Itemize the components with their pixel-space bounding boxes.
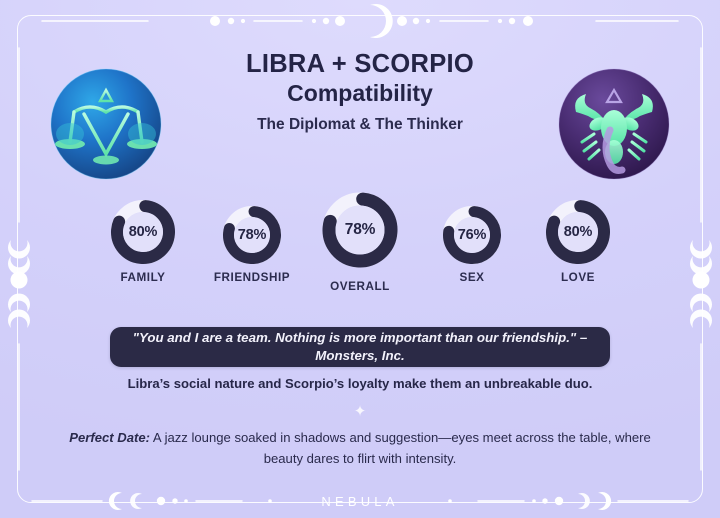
ring-value-family: 80%: [109, 198, 177, 266]
sparkle-divider-icon: ✦: [0, 404, 720, 419]
compatibility-card: LIBRA + SCORPIO Compatibility The Diplom…: [0, 0, 720, 518]
ring-label-overall: OVERALL: [318, 280, 402, 293]
title-block: LIBRA + SCORPIO Compatibility The Diplom…: [186, 50, 534, 134]
card-header: LIBRA + SCORPIO Compatibility The Diplom…: [0, 34, 720, 184]
page-subtitle: Compatibility: [186, 80, 534, 108]
ring-label-love: LOVE: [538, 271, 618, 284]
ring-family: 80% FAMILY: [103, 198, 183, 284]
libra-zodiac-icon: [50, 68, 162, 180]
ring-label-friendship: FRIENDSHIP: [212, 271, 292, 284]
ring-label-sex: SEX: [432, 271, 512, 284]
ring-value-overall: 78%: [320, 190, 400, 270]
page-title: LIBRA + SCORPIO: [186, 50, 534, 79]
ring-value-sex: 76%: [441, 204, 503, 266]
perfect-date-label: Perfect Date:: [69, 430, 150, 445]
ring-friendship: 78% FRIENDSHIP: [212, 204, 292, 284]
quote-text: "You and I are a team. Nothing is more i…: [110, 329, 610, 364]
footer-ornament: NEBULA: [0, 484, 720, 518]
ring-value-friendship: 78%: [221, 204, 283, 266]
ring-love: 80% LOVE: [538, 198, 618, 284]
quote-banner: "You and I are a team. Nothing is more i…: [110, 327, 610, 367]
footer-brand: NEBULA: [321, 494, 398, 509]
ring-label-family: FAMILY: [103, 271, 183, 284]
ring-sex: 76% SEX: [432, 204, 512, 284]
ring-value-love: 80%: [544, 198, 612, 266]
ring-overall: 78% OVERALL: [318, 190, 402, 293]
archetype-subtitle: The Diplomat & The Thinker: [186, 116, 534, 134]
summary-text: Libra’s social nature and Scorpio’s loya…: [40, 376, 680, 391]
perfect-date-body: A jazz lounge soaked in shadows and sugg…: [150, 430, 651, 466]
perfect-date-text: Perfect Date: A jazz lounge soaked in sh…: [48, 428, 672, 469]
scorpio-zodiac-icon: [558, 68, 670, 180]
compatibility-rings: 80% FAMILY 78% FRIENDSHIP: [0, 190, 720, 302]
